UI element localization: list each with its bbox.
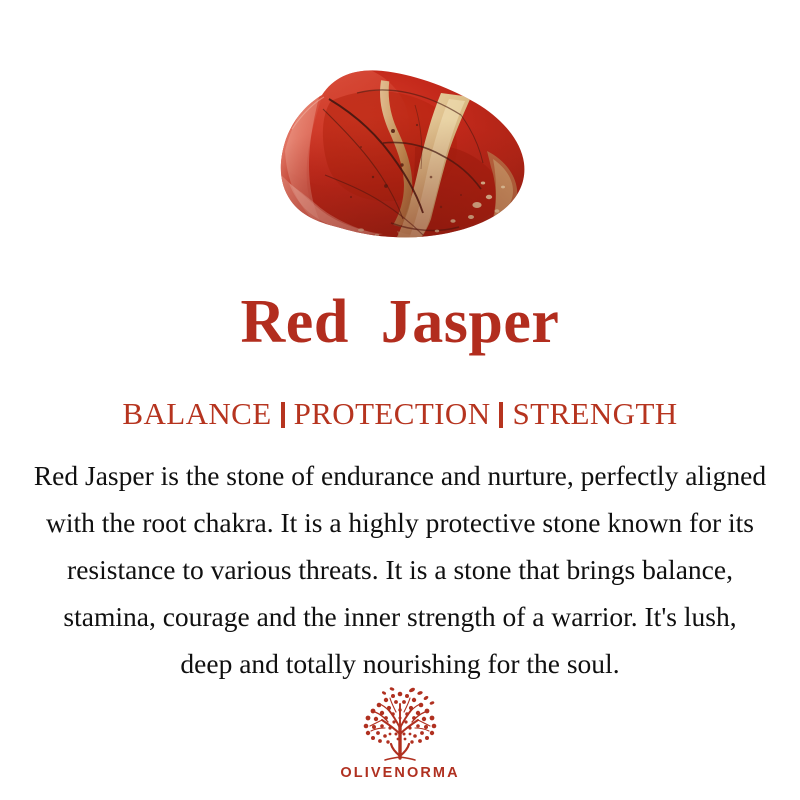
description-line: deep and totally nourishing for the soul… — [14, 640, 786, 687]
red-jasper-stone-image — [265, 55, 540, 255]
keyword-line: BALANCEPROTECTIONSTRENGTH — [0, 395, 800, 433]
tree-of-life-icon — [352, 684, 448, 762]
brand-wordmark: OLIVENORMA — [0, 764, 800, 782]
keyword-balance: BALANCE — [122, 396, 271, 431]
description-line: stamina, courage and the inner strength … — [14, 593, 786, 640]
stone-image-container — [0, 0, 800, 270]
description-line: with the root chakra. It is a highly pro… — [14, 499, 786, 546]
brand-logo: OLIVENORMA — [0, 684, 800, 782]
keyword-separator-1 — [281, 402, 285, 428]
page-title: Red Jasper — [0, 286, 800, 358]
description-paragraph: Red Jasper is the stone of endurance and… — [14, 452, 786, 687]
red-jasper-product-card: Red Jasper BALANCEPROTECTIONSTRENGTH Red… — [0, 0, 800, 800]
description-line: Red Jasper is the stone of endurance and… — [14, 452, 786, 499]
keyword-strength: STRENGTH — [512, 396, 677, 431]
description-line: resistance to various threats. It is a s… — [14, 546, 786, 593]
keyword-protection: PROTECTION — [294, 396, 491, 431]
keyword-separator-2 — [499, 402, 503, 428]
